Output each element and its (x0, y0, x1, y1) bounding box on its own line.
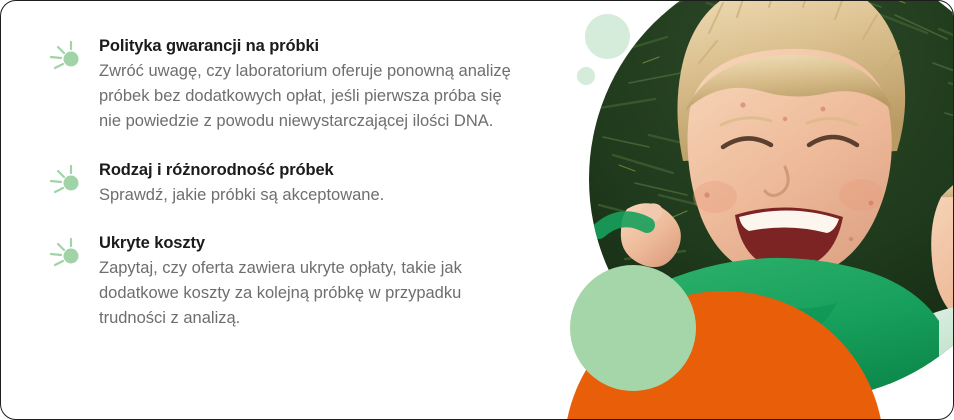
feature-list: Polityka gwarancji na próbki Zwróć uwagę… (1, 1, 561, 420)
feature-description: Zapytaj, czy oferta zawiera ukryte opłat… (99, 256, 519, 331)
feature-item-sample-type-variety: Rodzaj i różnorodność próbek Sprawdź, ja… (41, 159, 521, 208)
visual-panel (549, 1, 953, 420)
feature-title: Rodzaj i różnorodność próbek (99, 159, 521, 181)
sparkle-dot-icon (45, 162, 85, 200)
feature-title: Ukryte koszty (99, 232, 521, 254)
feature-description: Sprawdź, jakie próbki są akceptowane. (99, 183, 499, 208)
feature-card: Polityka gwarancji na próbki Zwróć uwagę… (0, 0, 954, 420)
sparkle-dot-icon (45, 235, 85, 273)
decorative-dot-medium (570, 265, 696, 391)
feature-description: Zwróć uwagę, czy laboratorium oferuje po… (99, 59, 519, 134)
feature-item-sample-warranty-policy: Polityka gwarancji na próbki Zwróć uwagę… (41, 35, 521, 135)
decorative-dot-large (585, 14, 630, 59)
feature-item-hidden-costs: Ukryte koszty Zapytaj, czy oferta zawier… (41, 232, 521, 332)
feature-title: Polityka gwarancji na próbki (99, 35, 521, 57)
decorative-dot-small (577, 67, 595, 85)
sparkle-dot-icon (45, 38, 85, 76)
